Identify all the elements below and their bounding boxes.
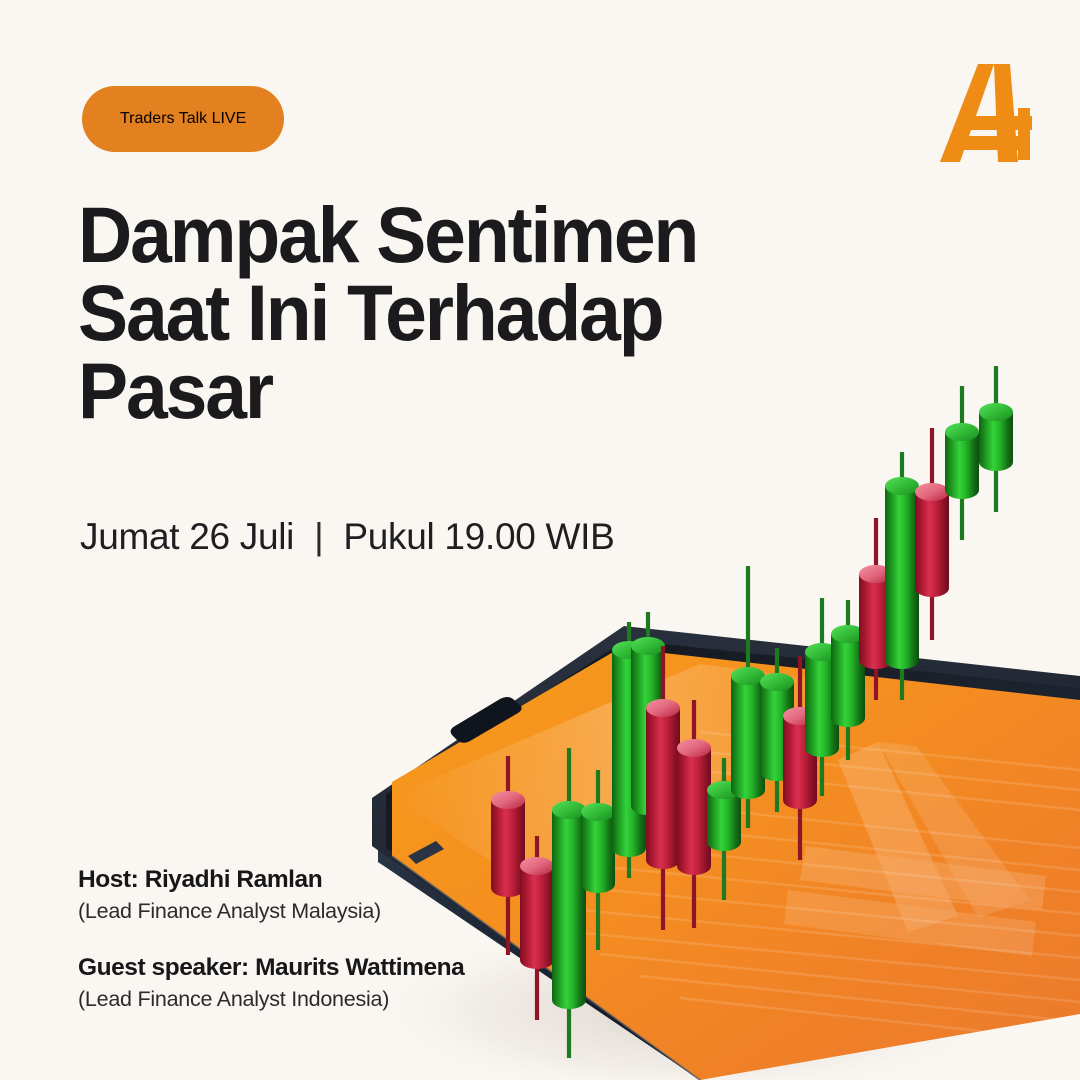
candle-3-up (552, 748, 586, 1058)
candle-12-down (783, 656, 817, 860)
page-title: Dampak Sentimen Saat Ini Terhadap Pasar (78, 196, 800, 431)
phone-screen (392, 648, 1080, 1080)
event-schedule: Jumat 26 Juli | Pukul 19.00 WIB (80, 516, 614, 558)
phone-side-button (408, 841, 444, 864)
candle-2-down (520, 836, 554, 1020)
screen-glare (392, 664, 900, 880)
host-name: Host: Riyadhi Ramlan (78, 866, 464, 894)
candle-19-up (979, 366, 1013, 512)
live-badge: Traders Talk LIVE (82, 86, 284, 152)
guest-block: Guest speaker: Maurits Wattimena (Lead F… (78, 954, 464, 1012)
guest-role: (Lead Finance Analyst Indonesia) (78, 987, 464, 1012)
candle-13-up (805, 598, 839, 796)
candle-10-up (731, 566, 765, 828)
candle-6-up (631, 612, 665, 840)
event-date: Jumat 26 Juli (80, 516, 294, 557)
phone-notch (451, 697, 522, 743)
candle-8-down (677, 700, 711, 928)
candle-16-up (885, 452, 919, 700)
speaker-list: Host: Riyadhi Ramlan (Lead Finance Analy… (78, 866, 464, 1012)
guest-name: Guest speaker: Maurits Wattimena (78, 954, 464, 982)
candle-18-up (945, 386, 979, 540)
candle-15-down (859, 518, 893, 700)
screen-logo-watermark (784, 742, 1046, 956)
candle-14-up (831, 600, 865, 760)
candle-5-up (612, 622, 646, 878)
candle-11-up (760, 648, 794, 812)
candle-9-up (707, 758, 741, 900)
letter-a-monogram-icon (934, 58, 1042, 170)
headline-line-3: Pasar (78, 352, 800, 430)
candle-1-down (491, 756, 525, 955)
promo-poster: Traders Talk LIVE Dampak Sentimen Saat I… (0, 0, 1080, 1080)
host-role: (Lead Finance Analyst Malaysia) (78, 899, 464, 924)
candle-17-down (915, 428, 949, 640)
host-block: Host: Riyadhi Ramlan (Lead Finance Analy… (78, 866, 464, 924)
candlestick-series (491, 366, 1013, 1058)
live-badge-label: Traders Talk LIVE (120, 110, 246, 128)
headline-line-1: Dampak Sentimen (78, 196, 800, 274)
candle-4-up (581, 770, 615, 950)
schedule-separator: | (314, 516, 323, 557)
headline-line-2: Saat Ini Terhadap (78, 274, 800, 352)
smartphone (372, 626, 1080, 1080)
screen-line-texture (572, 732, 1080, 1042)
candle-7-down (646, 646, 680, 930)
event-time: Pukul 19.00 WIB (343, 516, 614, 557)
